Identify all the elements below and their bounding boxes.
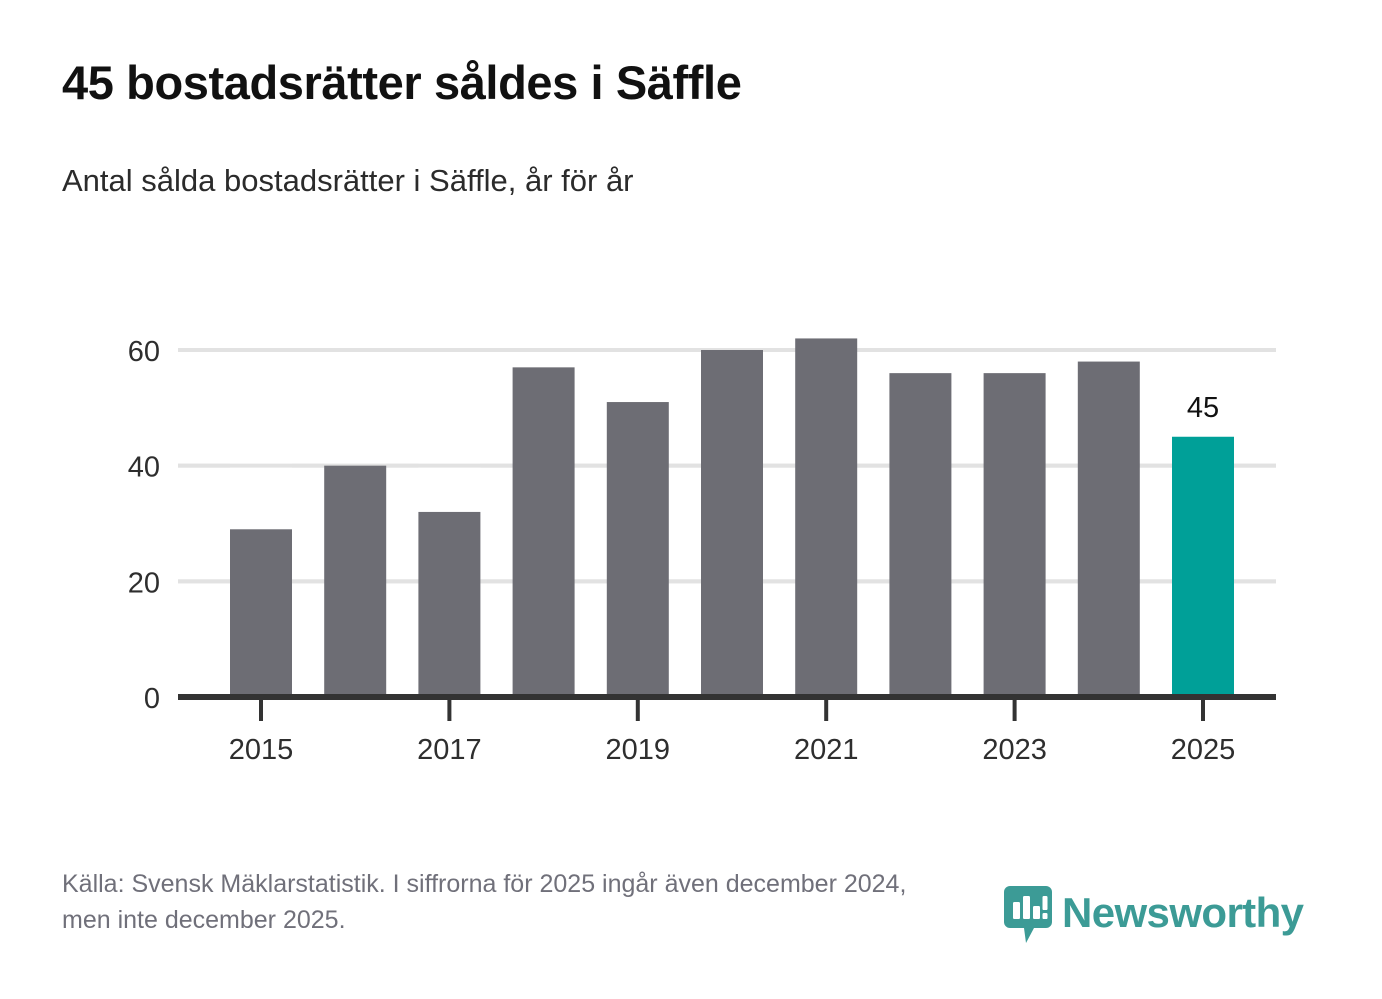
x-tick-label-2019: 2019 [606,734,671,766]
bar-2023[interactable] [984,373,1046,697]
bar-value-label-2025: 45 [1187,392,1219,424]
bar-2019[interactable] [607,402,669,697]
y-tick-label-40: 40 [128,452,160,484]
x-tick-label-2023: 2023 [982,734,1047,766]
bar-2018[interactable] [513,367,575,697]
logo-wordmark: Newsworthy [1062,892,1303,934]
bars-group [230,338,1234,697]
x-tick-label-2017: 2017 [417,734,482,766]
bar-value-labels-group: 45 [1187,392,1219,424]
gridlines-group [178,350,1276,581]
bar-2024[interactable] [1078,362,1140,697]
bar-2022[interactable] [889,373,951,697]
x-tick-label-2015: 2015 [229,734,294,766]
bar-2016[interactable] [324,466,386,697]
bar-2020[interactable] [701,350,763,697]
axis-group [178,697,1276,721]
bar-2015[interactable] [230,529,292,697]
page-title: 45 bostadsrätter såldes i Säffle [62,58,1332,109]
y-tick-labels-group: 0204060 [128,336,160,715]
x-tick-label-2021: 2021 [794,734,859,766]
y-tick-label-60: 60 [128,336,160,368]
bar-2017[interactable] [418,512,480,697]
bar-2025[interactable] [1172,437,1234,697]
bar-2021[interactable] [795,338,857,697]
y-tick-label-0: 0 [144,683,160,715]
newsworthy-logo: Newsworthy [1004,884,1303,946]
x-tick-labels-group: 201520172019202120232025 [229,734,1236,766]
x-tick-label-2025: 2025 [1171,734,1236,766]
newsworthy-bar-chart-bubble-icon [1004,886,1052,944]
y-tick-label-20: 20 [128,567,160,599]
chart-subtitle: Antal sålda bostadsrätter i Säffle, år f… [62,109,1332,198]
chart-header: 45 bostadsrätter såldes i Säffle Antal s… [62,58,1332,198]
